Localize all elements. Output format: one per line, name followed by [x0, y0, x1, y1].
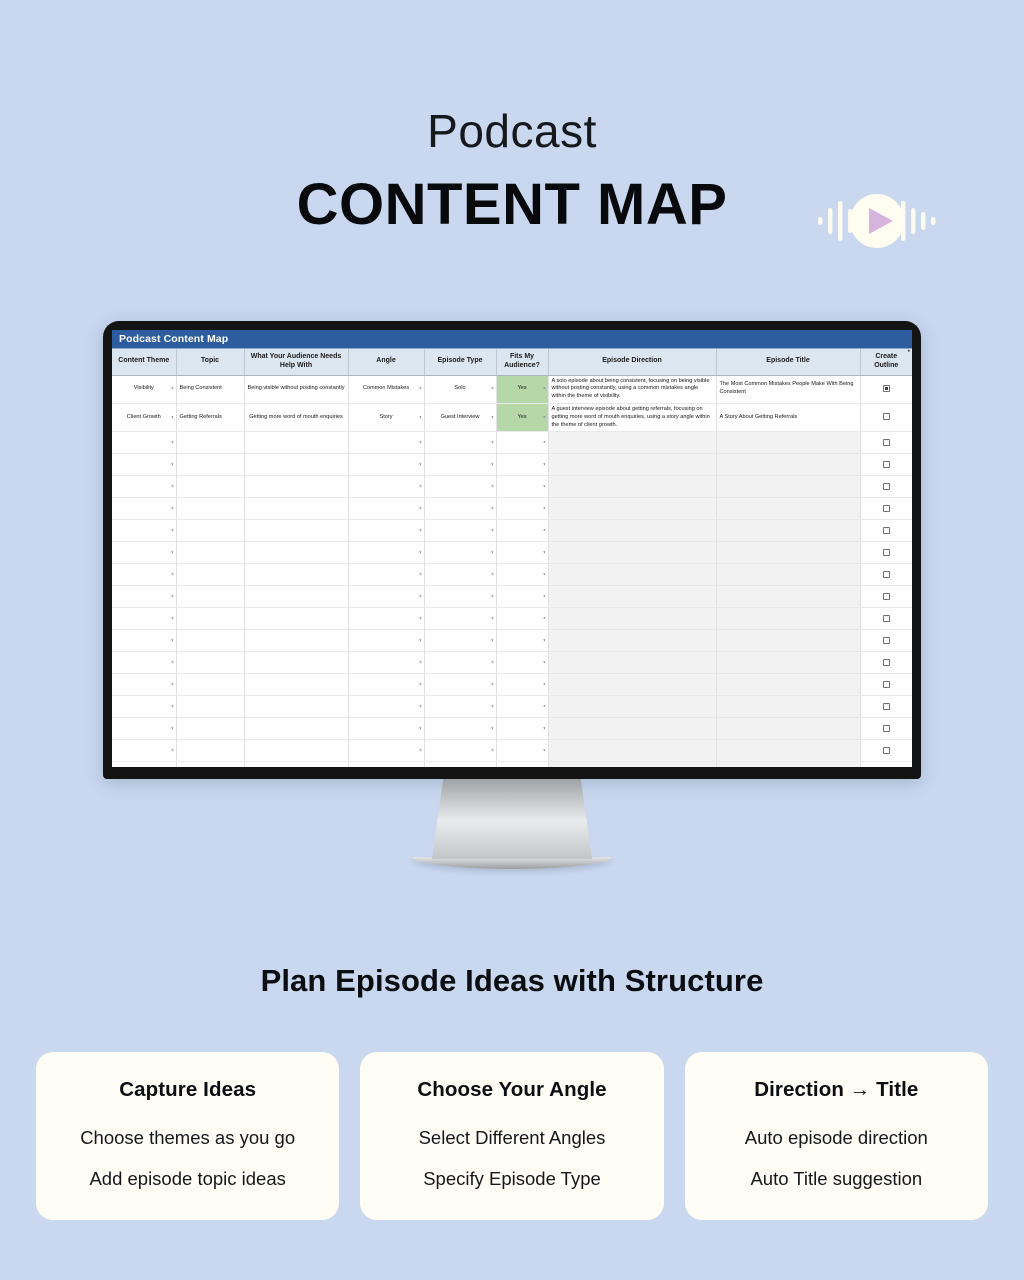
create-outline-checkbox[interactable] — [860, 520, 912, 542]
checkbox-unchecked-icon[interactable] — [883, 413, 890, 420]
cell-angle[interactable] — [348, 498, 424, 520]
table-body[interactable]: VisibilityBeing ConsistentBeing visible … — [112, 375, 912, 767]
cell-fits-audience[interactable] — [496, 542, 548, 564]
table-row[interactable] — [112, 762, 912, 767]
cell-angle[interactable] — [348, 652, 424, 674]
cell-angle[interactable]: Common Mistakes — [348, 375, 424, 403]
cell-episode-direction[interactable] — [548, 586, 716, 608]
cell-episode-title[interactable] — [716, 718, 860, 740]
create-outline-checkbox[interactable] — [860, 476, 912, 498]
table-row[interactable] — [112, 586, 912, 608]
table-row[interactable]: Client GrowthGetting ReferralsGetting mo… — [112, 403, 912, 431]
cell-content-theme[interactable] — [112, 476, 176, 498]
create-outline-checkbox[interactable] — [860, 762, 912, 767]
cell-episode-direction[interactable] — [548, 674, 716, 696]
cell-audience-need[interactable] — [244, 586, 348, 608]
cell-episode-type[interactable] — [424, 564, 496, 586]
table-row[interactable] — [112, 718, 912, 740]
cell-content-theme[interactable] — [112, 630, 176, 652]
cell-audience-need[interactable] — [244, 476, 348, 498]
cell-topic[interactable] — [176, 454, 244, 476]
podcast-content-map-poster: Podcast CONTENT MAP Podcast Content Map — [0, 0, 1024, 1280]
cell-episode-type[interactable] — [424, 696, 496, 718]
cell-audience-need[interactable] — [244, 718, 348, 740]
checkbox-unchecked-icon[interactable] — [883, 505, 890, 512]
cell-episode-type[interactable] — [424, 476, 496, 498]
create-outline-checkbox[interactable] — [860, 718, 912, 740]
cell-episode-direction[interactable] — [548, 630, 716, 652]
cell-topic[interactable] — [176, 718, 244, 740]
create-outline-checkbox[interactable] — [860, 608, 912, 630]
table-row[interactable] — [112, 608, 912, 630]
cell-audience-need[interactable]: Being visible without posting constantly — [244, 375, 348, 403]
cell-episode-title[interactable] — [716, 652, 860, 674]
cell-episode-direction[interactable] — [548, 520, 716, 542]
cell-episode-type[interactable] — [424, 608, 496, 630]
checkbox-unchecked-icon[interactable] — [883, 681, 890, 688]
cell-fits-audience[interactable]: Yes — [496, 375, 548, 403]
feature-card-line: Add episode topic ideas — [48, 1170, 327, 1189]
cell-episode-type[interactable] — [424, 718, 496, 740]
cell-episode-title[interactable] — [716, 520, 860, 542]
cell-episode-direction[interactable] — [548, 740, 716, 762]
cell-episode-title[interactable] — [716, 696, 860, 718]
cell-episode-title[interactable]: A Story About Getting Referrals — [716, 403, 860, 431]
cell-fits-audience[interactable] — [496, 740, 548, 762]
cell-audience-need[interactable] — [244, 542, 348, 564]
checkbox-unchecked-icon[interactable] — [883, 439, 890, 446]
cell-episode-direction[interactable] — [548, 718, 716, 740]
checkbox-unchecked-icon[interactable] — [883, 593, 890, 600]
create-outline-checkbox[interactable] — [860, 403, 912, 431]
checkbox-unchecked-icon[interactable] — [883, 483, 890, 490]
cell-fits-audience[interactable] — [496, 476, 548, 498]
cell-topic[interactable] — [176, 674, 244, 696]
cell-content-theme[interactable] — [112, 586, 176, 608]
table-row[interactable]: VisibilityBeing ConsistentBeing visible … — [112, 375, 912, 403]
table-row[interactable] — [112, 696, 912, 718]
cell-content-theme[interactable]: Visibility — [112, 375, 176, 403]
cell-angle[interactable] — [348, 608, 424, 630]
hero-eyebrow: Podcast — [0, 108, 1024, 154]
cell-fits-audience[interactable] — [496, 498, 548, 520]
cell-content-theme[interactable] — [112, 740, 176, 762]
feature-card-line: Auto episode direction — [697, 1129, 976, 1148]
cell-angle[interactable] — [348, 454, 424, 476]
subheading: Plan Episode Ideas with Structure — [0, 963, 1024, 999]
cell-episode-direction[interactable]: A solo episode about being consistent, f… — [548, 375, 716, 403]
feature-card: Capture IdeasChoose themes as you goAdd … — [36, 1052, 339, 1220]
cell-episode-title[interactable] — [716, 564, 860, 586]
checkbox-unchecked-icon[interactable] — [883, 571, 890, 578]
monitor-bezel: Podcast Content Map Content Theme Topic … — [103, 321, 921, 779]
cell-angle[interactable]: Story — [348, 403, 424, 431]
cell-angle[interactable] — [348, 542, 424, 564]
column-header-episode-title[interactable]: Episode Title — [716, 349, 860, 375]
cell-content-theme[interactable] — [112, 696, 176, 718]
table-row[interactable] — [112, 520, 912, 542]
cell-angle[interactable] — [348, 630, 424, 652]
cell-episode-type[interactable] — [424, 498, 496, 520]
cell-episode-direction[interactable] — [548, 542, 716, 564]
column-header-audience-need[interactable]: What Your Audience Needs Help With — [244, 349, 348, 375]
cell-episode-title[interactable] — [716, 674, 860, 696]
cell-episode-title[interactable] — [716, 608, 860, 630]
cell-fits-audience[interactable]: Yes — [496, 403, 548, 431]
feature-card: Direction → TitleAuto episode directionA… — [685, 1052, 988, 1220]
cell-fits-audience[interactable] — [496, 652, 548, 674]
cell-episode-direction[interactable] — [548, 652, 716, 674]
cell-episode-type[interactable]: Guest Interview — [424, 403, 496, 431]
table-row[interactable] — [112, 476, 912, 498]
checkbox-unchecked-icon[interactable] — [883, 725, 890, 732]
cell-episode-type[interactable] — [424, 520, 496, 542]
cell-episode-type[interactable] — [424, 454, 496, 476]
spreadsheet-grid[interactable]: Content Theme Topic What Your Audience N… — [112, 349, 912, 767]
cell-episode-direction[interactable] — [548, 498, 716, 520]
create-outline-checkbox[interactable] — [860, 630, 912, 652]
cell-angle[interactable] — [348, 564, 424, 586]
feature-card-line: Auto Title suggestion — [697, 1170, 976, 1189]
checkbox-unchecked-icon[interactable] — [883, 659, 890, 666]
cell-topic[interactable] — [176, 476, 244, 498]
table-row[interactable] — [112, 498, 912, 520]
cell-episode-title[interactable]: The Most Common Mistakes People Make Wit… — [716, 375, 860, 403]
create-outline-checkbox[interactable] — [860, 652, 912, 674]
cell-audience-need[interactable] — [244, 454, 348, 476]
cell-topic[interactable] — [176, 762, 244, 767]
table-row[interactable] — [112, 740, 912, 762]
checkbox-unchecked-icon[interactable] — [883, 637, 890, 644]
table-row[interactable] — [112, 674, 912, 696]
cell-topic[interactable]: Getting Referrals — [176, 403, 244, 431]
cell-angle[interactable] — [348, 762, 424, 767]
cell-episode-title[interactable] — [716, 454, 860, 476]
cell-episode-title[interactable] — [716, 586, 860, 608]
create-outline-checkbox[interactable] — [860, 564, 912, 586]
cell-episode-title[interactable] — [716, 476, 860, 498]
create-outline-checkbox[interactable] — [860, 586, 912, 608]
cell-content-theme[interactable] — [112, 608, 176, 630]
cell-episode-type[interactable] — [424, 674, 496, 696]
checkbox-unchecked-icon[interactable] — [883, 461, 890, 468]
cell-topic[interactable] — [176, 652, 244, 674]
cell-content-theme[interactable] — [112, 674, 176, 696]
cell-angle[interactable] — [348, 586, 424, 608]
cell-content-theme[interactable] — [112, 432, 176, 454]
cell-episode-title[interactable] — [716, 762, 860, 767]
column-header-content-theme[interactable]: Content Theme — [112, 349, 176, 375]
table-row[interactable] — [112, 630, 912, 652]
feature-card-title: Choose Your Angle — [372, 1078, 651, 1102]
cell-angle[interactable] — [348, 696, 424, 718]
cell-content-theme[interactable] — [112, 520, 176, 542]
cell-topic[interactable] — [176, 740, 244, 762]
cell-audience-need[interactable] — [244, 520, 348, 542]
cell-episode-direction[interactable] — [548, 608, 716, 630]
cell-episode-type[interactable] — [424, 762, 496, 767]
column-header-angle[interactable]: Angle — [348, 349, 424, 375]
cell-fits-audience[interactable] — [496, 762, 548, 767]
cell-fits-audience[interactable] — [496, 564, 548, 586]
create-outline-checkbox[interactable] — [860, 375, 912, 403]
cell-fits-audience[interactable] — [496, 696, 548, 718]
cell-topic[interactable]: Being Consistent — [176, 375, 244, 403]
cell-episode-direction[interactable] — [548, 696, 716, 718]
column-header-create-outline[interactable]: Create Outline — [860, 349, 912, 375]
cell-episode-direction[interactable] — [548, 432, 716, 454]
cell-episode-type[interactable] — [424, 432, 496, 454]
table-row[interactable] — [112, 454, 912, 476]
cell-audience-need[interactable] — [244, 498, 348, 520]
cell-audience-need[interactable] — [244, 564, 348, 586]
cell-audience-need[interactable] — [244, 608, 348, 630]
cell-episode-type[interactable] — [424, 630, 496, 652]
create-outline-checkbox[interactable] — [860, 740, 912, 762]
cell-content-theme[interactable] — [112, 542, 176, 564]
cell-angle[interactable] — [348, 520, 424, 542]
cell-episode-title[interactable] — [716, 740, 860, 762]
cell-audience-need[interactable] — [244, 696, 348, 718]
cell-content-theme[interactable] — [112, 498, 176, 520]
cell-episode-direction[interactable] — [548, 454, 716, 476]
checkbox-unchecked-icon[interactable] — [883, 747, 890, 754]
checkbox-unchecked-icon[interactable] — [883, 703, 890, 710]
cell-episode-type[interactable] — [424, 652, 496, 674]
cell-fits-audience[interactable] — [496, 520, 548, 542]
cell-episode-type[interactable] — [424, 542, 496, 564]
cell-audience-need[interactable] — [244, 740, 348, 762]
cell-topic[interactable] — [176, 564, 244, 586]
create-outline-checkbox[interactable] — [860, 674, 912, 696]
column-header-topic[interactable]: Topic — [176, 349, 244, 375]
cell-fits-audience[interactable] — [496, 608, 548, 630]
cell-episode-direction[interactable]: A guest interview episode about getting … — [548, 403, 716, 431]
cell-topic[interactable] — [176, 432, 244, 454]
cell-audience-need[interactable] — [244, 432, 348, 454]
feature-card-line: Select Different Angles — [372, 1129, 651, 1148]
cell-content-theme[interactable] — [112, 454, 176, 476]
table-row[interactable] — [112, 542, 912, 564]
cell-content-theme[interactable] — [112, 564, 176, 586]
cell-fits-audience[interactable] — [496, 586, 548, 608]
monitor-neck — [432, 779, 592, 859]
cell-audience-need[interactable] — [244, 652, 348, 674]
cell-episode-title[interactable] — [716, 432, 860, 454]
spreadsheet-titlebar: Podcast Content Map — [112, 330, 912, 349]
cell-topic[interactable] — [176, 520, 244, 542]
cell-topic[interactable] — [176, 542, 244, 564]
create-outline-checkbox[interactable] — [860, 542, 912, 564]
column-header-episode-type[interactable]: Episode Type — [424, 349, 496, 375]
cell-audience-need[interactable] — [244, 674, 348, 696]
cell-angle[interactable] — [348, 476, 424, 498]
feature-card-title: Capture Ideas — [48, 1078, 327, 1102]
create-outline-checkbox[interactable] — [860, 696, 912, 718]
cell-topic[interactable] — [176, 630, 244, 652]
cell-content-theme[interactable]: Client Growth — [112, 403, 176, 431]
cell-episode-title[interactable] — [716, 542, 860, 564]
cell-angle[interactable] — [348, 740, 424, 762]
cell-topic[interactable] — [176, 586, 244, 608]
cell-fits-audience[interactable] — [496, 718, 548, 740]
table-row[interactable] — [112, 652, 912, 674]
cell-topic[interactable] — [176, 608, 244, 630]
checkbox-unchecked-icon[interactable] — [883, 615, 890, 622]
cell-episode-type[interactable] — [424, 740, 496, 762]
cell-topic[interactable] — [176, 696, 244, 718]
cell-fits-audience[interactable] — [496, 674, 548, 696]
table-header-row: Content Theme Topic What Your Audience N… — [112, 349, 912, 375]
checkbox-unchecked-icon[interactable] — [883, 527, 890, 534]
column-header-episode-direction[interactable]: Episode Direction — [548, 349, 716, 375]
cell-angle[interactable] — [348, 674, 424, 696]
checkbox-checked-icon[interactable] — [883, 385, 890, 392]
cell-episode-direction[interactable] — [548, 762, 716, 767]
cell-episode-direction[interactable] — [548, 476, 716, 498]
create-outline-checkbox[interactable] — [860, 454, 912, 476]
cell-audience-need[interactable] — [244, 630, 348, 652]
cell-content-theme[interactable] — [112, 762, 176, 767]
table-row[interactable] — [112, 564, 912, 586]
cell-content-theme[interactable] — [112, 718, 176, 740]
cell-episode-type[interactable] — [424, 586, 496, 608]
cell-audience-need[interactable]: Getting more word of mouth enquiries — [244, 403, 348, 431]
table-row[interactable] — [112, 432, 912, 454]
cell-content-theme[interactable] — [112, 652, 176, 674]
content-map-table[interactable]: Content Theme Topic What Your Audience N… — [112, 349, 912, 767]
feature-card-line: Specify Episode Type — [372, 1170, 651, 1189]
feature-card: Choose Your AngleSelect Different Angles… — [360, 1052, 663, 1220]
cell-angle[interactable] — [348, 718, 424, 740]
create-outline-checkbox[interactable] — [860, 498, 912, 520]
feature-card-line: Choose themes as you go — [48, 1129, 327, 1148]
cell-angle[interactable] — [348, 432, 424, 454]
cell-fits-audience[interactable] — [496, 454, 548, 476]
cell-topic[interactable] — [176, 498, 244, 520]
monitor-screen: Podcast Content Map Content Theme Topic … — [112, 330, 912, 767]
checkbox-unchecked-icon[interactable] — [883, 549, 890, 556]
column-header-fits-audience[interactable]: Fits My Audience? — [496, 349, 548, 375]
cell-episode-title[interactable] — [716, 630, 860, 652]
feature-cards: Capture IdeasChoose themes as you goAdd … — [36, 1052, 988, 1220]
cell-fits-audience[interactable] — [496, 432, 548, 454]
audio-waveform-play-icon — [816, 186, 938, 256]
feature-card-title: Direction → Title — [697, 1078, 976, 1102]
create-outline-checkbox[interactable] — [860, 432, 912, 454]
cell-episode-direction[interactable] — [548, 564, 716, 586]
cell-episode-title[interactable] — [716, 498, 860, 520]
cell-audience-need[interactable] — [244, 762, 348, 767]
cell-episode-type[interactable]: Solo — [424, 375, 496, 403]
imac-monitor-mockup: Podcast Content Map Content Theme Topic … — [103, 321, 921, 869]
cell-fits-audience[interactable] — [496, 630, 548, 652]
